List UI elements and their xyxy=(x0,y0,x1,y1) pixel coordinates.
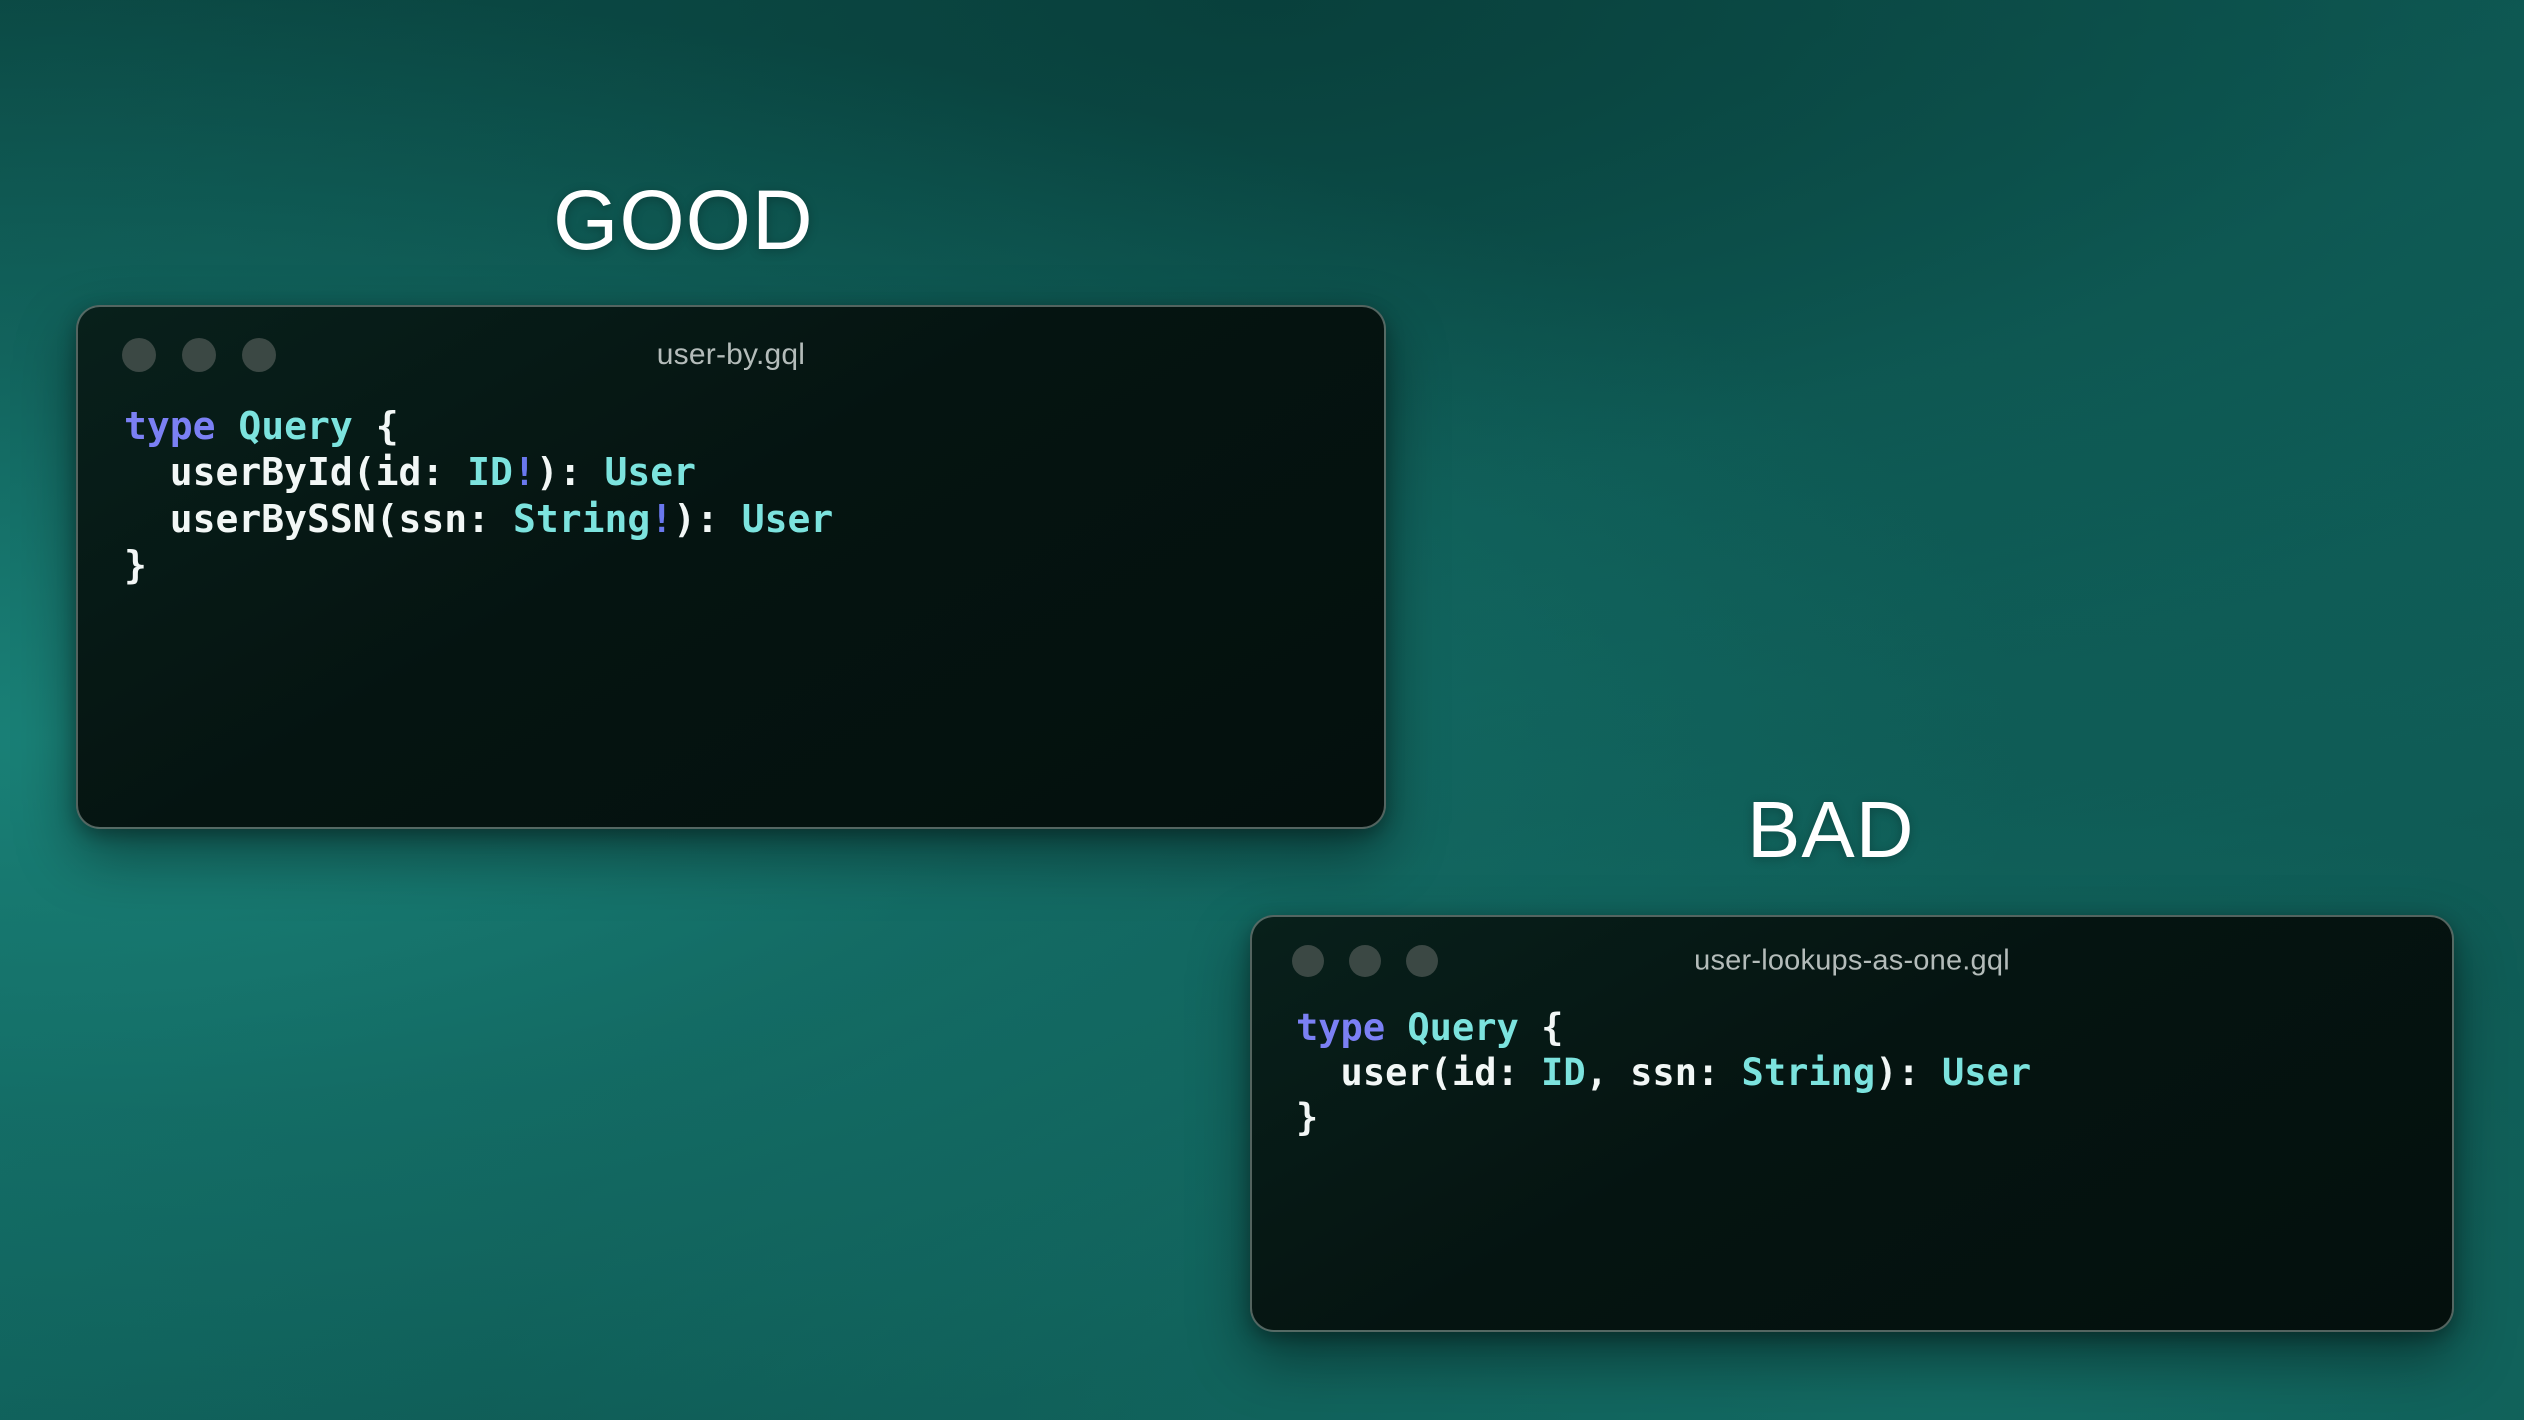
code-token: userById(id: xyxy=(124,450,467,494)
code-token: { xyxy=(376,404,399,448)
code-token: type xyxy=(1296,1006,1385,1049)
code-token: Query xyxy=(238,404,352,448)
code-line: } xyxy=(124,542,1384,588)
window-title-good: user-by.gql xyxy=(78,338,1384,372)
code-token xyxy=(1519,1006,1541,1049)
code-token: Query xyxy=(1407,1006,1518,1049)
code-line: userById(id: ID!): User xyxy=(124,449,1384,495)
code-token: String xyxy=(513,497,650,541)
code-line: } xyxy=(1296,1095,2452,1140)
code-token: ): xyxy=(536,450,605,494)
code-content-good: type Query { userById(id: ID!): User use… xyxy=(78,403,1384,588)
code-token xyxy=(1385,1006,1407,1049)
titlebar-bad: user-lookups-as-one.gql xyxy=(1252,917,2452,1005)
code-token: userBySSN(ssn: xyxy=(124,497,513,541)
code-line: user(id: ID, ssn: String): User xyxy=(1296,1050,2452,1095)
code-line: type Query { xyxy=(1296,1005,2452,1050)
code-token: { xyxy=(1541,1006,1563,1049)
window-title-bad: user-lookups-as-one.gql xyxy=(1252,945,2452,978)
code-token: } xyxy=(124,543,147,587)
code-content-bad: type Query { user(id: ID, ssn: String): … xyxy=(1252,1005,2452,1140)
code-token: String xyxy=(1742,1051,1876,1094)
code-token: ID xyxy=(1541,1051,1586,1094)
code-window-bad: user-lookups-as-one.gql type Query { use… xyxy=(1250,915,2454,1332)
code-line: type Query { xyxy=(124,403,1384,449)
code-token xyxy=(216,404,239,448)
code-token: User xyxy=(1942,1051,2031,1094)
code-token: ! xyxy=(513,450,536,494)
code-token: ! xyxy=(650,497,673,541)
code-token: , ssn: xyxy=(1586,1051,1742,1094)
code-token: ID xyxy=(467,450,513,494)
code-line: userBySSN(ssn: String!): User xyxy=(124,496,1384,542)
caption-bad: BAD xyxy=(1747,790,1915,870)
code-token: User xyxy=(604,450,696,494)
code-token: ): xyxy=(1875,1051,1942,1094)
code-token: type xyxy=(124,404,216,448)
slide-canvas: GOOD user-by.gql type Query { userById(i… xyxy=(0,0,2524,1420)
code-token: } xyxy=(1296,1096,1318,1139)
caption-good: GOOD xyxy=(553,178,814,262)
code-token: user(id: xyxy=(1296,1051,1541,1094)
code-token: ): xyxy=(673,497,742,541)
code-token xyxy=(353,404,376,448)
code-token: User xyxy=(742,497,834,541)
titlebar-good: user-by.gql xyxy=(78,307,1384,403)
code-window-good: user-by.gql type Query { userById(id: ID… xyxy=(76,305,1386,829)
